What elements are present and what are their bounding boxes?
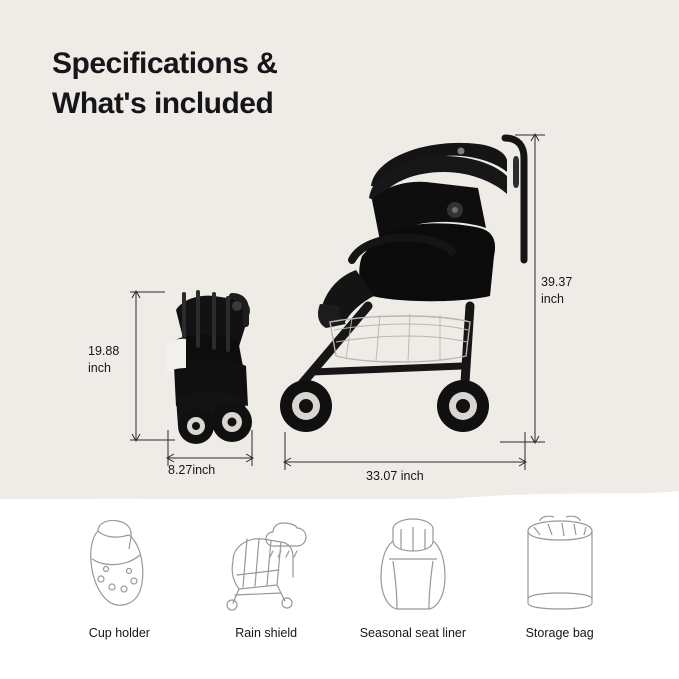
- accessory-storage-bag: Storage bag: [486, 511, 633, 640]
- product-diagram: [0, 110, 679, 500]
- storage-bag-icon: [510, 511, 610, 615]
- seasonal-seat-liner-icon: [363, 511, 463, 615]
- accessory-cup-holder: Cup holder: [46, 511, 193, 640]
- dimension-unfolded-length: 33.07 inch: [366, 468, 424, 485]
- dimension-unfolded-height: 39.37 inch: [541, 274, 572, 308]
- folded-stroller: [166, 292, 252, 444]
- accessories-row: Cup holder: [0, 511, 679, 679]
- page-root: Specifications & What's included: [0, 0, 679, 679]
- front-wheel: [280, 380, 332, 432]
- cup-holder-icon: [74, 511, 164, 615]
- accessory-label: Storage bag: [526, 626, 594, 640]
- rear-wheel: [437, 380, 489, 432]
- accessory-seasonal-seat-liner: Seasonal seat liner: [340, 511, 487, 640]
- dimension-folded-width: 8.27inch: [168, 462, 215, 479]
- page-title-line-1: Specifications &: [52, 44, 452, 84]
- stroller-side-view: [280, 138, 524, 432]
- accessory-label: Rain shield: [235, 626, 297, 640]
- accessory-rain-shield: Rain shield: [193, 511, 340, 640]
- dimension-folded-height: 19.88 inch: [88, 343, 119, 377]
- accessory-label: Seasonal seat liner: [360, 626, 466, 640]
- rain-shield-icon: [211, 511, 321, 615]
- accessory-label: Cup holder: [89, 626, 150, 640]
